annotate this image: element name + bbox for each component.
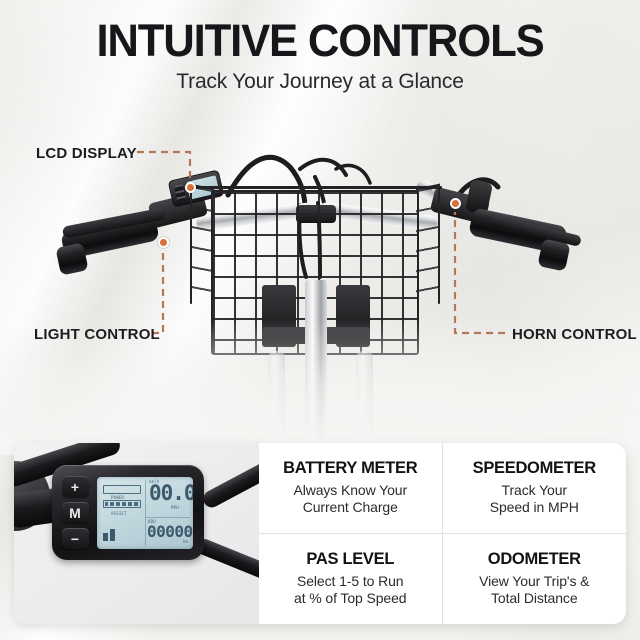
feature-grid: BATTERY METER Always Know Your Current C… [259,443,626,624]
lcd-speed-value: 00.0 [149,483,191,504]
callout-dot-lcd-display [185,182,196,193]
lcd-battery-caption: POWER [111,495,124,500]
feature-desc-line1: View Your Trip's & [479,573,589,591]
callout-dot-light-control [158,237,169,248]
lcd-horizontal-divider [146,517,190,518]
feature-pas-level: PAS LEVEL Select 1-5 to Run at % of Top … [259,534,443,625]
feature-card: + M − POWER ASSIST km/h 00.0 MPH ODO [14,443,626,624]
lcd-closeup-photo: + M − POWER ASSIST km/h 00.0 MPH ODO [14,443,259,624]
basket-right-flare [416,184,440,309]
feature-battery-meter: BATTERY METER Always Know Your Current C… [259,443,443,534]
lcd-pas-indicator [103,529,115,541]
lcd-display-unit[interactable]: + M − POWER ASSIST km/h 00.0 MPH ODO [52,465,204,560]
feature-desc-line2: at % of Top Speed [294,590,406,608]
lcd-speed-unit: MPH [171,505,179,510]
feature-desc-line1: Select 1-5 to Run [297,573,403,591]
lcd-odometer-unit: km [183,539,188,544]
page-subtitle: Track Your Journey at a Glance [0,70,640,94]
basket-rim [188,186,442,189]
feature-desc-line1: Track Your [502,482,567,500]
lcd-mode-button[interactable]: M [62,502,89,523]
callout-label-lcd-display: LCD DISPLAY [36,145,137,162]
lcd-battery-outline [103,485,141,494]
callout-label-horn-control: HORN CONTROL [512,326,637,343]
lcd-vertical-divider [145,480,146,546]
pas-block-1 [103,533,108,541]
feature-speedometer: SPEEDOMETER Track Your Speed in MPH [443,443,627,534]
closeup-bar-right [200,461,259,511]
lcd-odometer-value: 00000 [147,524,191,540]
lcd-battery-bars [103,500,141,508]
lcd-button-group[interactable]: + M − [55,476,95,549]
feature-desc-line2: Total Distance [491,590,578,608]
feature-title: SPEEDOMETER [473,459,596,478]
page-title: INTUITIVE CONTROLS [10,17,631,64]
feature-desc-line1: Always Know Your [293,482,407,500]
lcd-screen: POWER ASSIST km/h 00.0 MPH ODO 00000 km [97,477,193,549]
feature-title: BATTERY METER [283,459,417,478]
lcd-assist-caption: ASSIST [111,511,127,516]
feature-title: ODOMETER [488,550,581,569]
callout-label-light-control: LIGHT CONTROL [34,326,160,343]
left-grip-endcap [55,242,88,275]
callout-dot-horn-control [450,198,461,209]
feature-desc-line2: Current Charge [303,499,398,517]
feature-odometer: ODOMETER View Your Trip's & Total Distan… [443,534,627,625]
feature-desc-line2: Speed in MPH [490,499,579,517]
lcd-plus-button[interactable]: + [62,476,89,497]
lcd-minus-button[interactable]: − [62,528,89,549]
feature-title: PAS LEVEL [306,550,394,569]
pas-block-2 [110,529,115,541]
